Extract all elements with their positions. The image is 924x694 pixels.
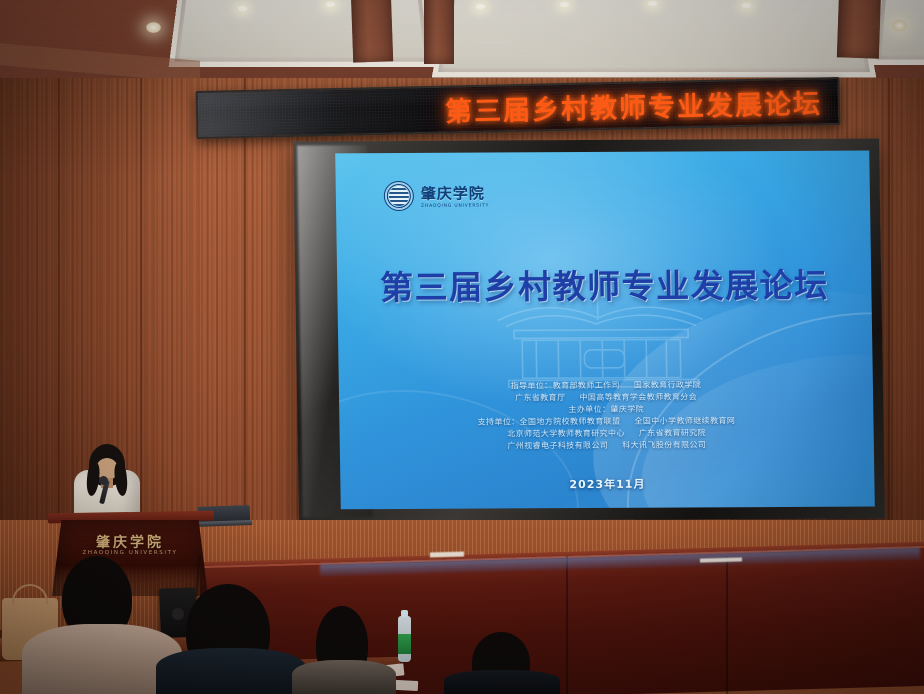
org-label: 主办单位：: [568, 405, 610, 414]
org-label: 指导单位：: [511, 381, 553, 390]
bottle-cap: [401, 610, 408, 617]
audience-shoulders: [292, 660, 396, 694]
ceiling-downlight: [648, 1, 657, 6]
ceiling-coffer-center: [432, 0, 877, 77]
slide-title: 第三届乡村教师专业发展论坛: [337, 259, 872, 310]
org-value: 教育部教师工作司: [553, 381, 620, 390]
ceiling-downlight: [238, 6, 247, 11]
org-value: 国家教育行政学院: [634, 380, 701, 389]
lectern-label-cn: 肇庆学院: [52, 532, 208, 552]
water-bottle: [398, 616, 411, 662]
speaker-cone: [172, 608, 184, 620]
org-value: 北京师范大学教师教育研究中心: [507, 429, 625, 439]
presenter: [70, 436, 144, 522]
audience-shoulders: [444, 670, 560, 694]
org-value: 广东省教育研究院: [639, 428, 706, 437]
university-seal-icon: [384, 181, 414, 211]
ceiling-downlight: [742, 3, 751, 8]
auditorium-scene: 第三届乡村教师专业发展论坛: [0, 0, 924, 694]
led-glare: [198, 88, 429, 137]
university-logo: 肇庆学院 ZHAOQING UNIVERSITY: [384, 181, 490, 212]
recessed-spotlight: [892, 20, 907, 31]
audience-shoulders: [156, 648, 306, 694]
org-value: 肇庆学院: [610, 405, 644, 414]
stage-paper: [430, 552, 464, 558]
org-value: 广州视睿电子科技有限公司: [507, 441, 608, 451]
ceiling-coffer-left: [169, 0, 436, 67]
org-value: 中国高等教育学会教师教育分会: [579, 392, 697, 402]
university-logo-en: ZHAOQING UNIVERSITY: [421, 204, 489, 209]
org-value: 广东省教育厅: [515, 393, 566, 402]
presentation-slide: 肇庆学院 ZHAOQING UNIVERSITY 第三届乡村教师专业发展论坛 指…: [335, 151, 875, 510]
microphone-head: [99, 476, 108, 485]
org-value: 科大讯飞股份有限公司: [622, 440, 706, 449]
recessed-spotlight: [146, 22, 161, 33]
led-banner-text: 第三届乡村教师专业发展论坛: [445, 82, 823, 129]
org-label: 支持单位：: [478, 417, 520, 426]
slide-organizations: 指导单位：教育部教师工作司国家教育行政学院 广东省教育厅中国高等教育学会教师教育…: [339, 379, 874, 454]
ceiling-beam-1: [351, 0, 393, 63]
projection-screen: 肇庆学院 ZHAOQING UNIVERSITY 第三届乡村教师专业发展论坛 指…: [293, 138, 885, 521]
org-value: 全国中小学教师继续教育网: [634, 416, 735, 426]
ceiling-downlight: [476, 4, 485, 9]
stage-panel-seam: [726, 556, 728, 694]
ceiling-downlight: [326, 2, 335, 7]
stage-panel-seam: [566, 556, 568, 694]
university-logo-cn: 肇庆学院: [421, 183, 489, 204]
lectern-label-en: ZHAOQING UNIVERSITY: [52, 550, 208, 556]
ceiling-beam-2: [424, 0, 454, 64]
slide-date: 2023年11月: [340, 475, 874, 494]
org-value: 全国地方院校教师教育联盟: [520, 417, 621, 427]
ceiling-downlight: [560, 2, 569, 7]
bottle-label: [398, 634, 411, 654]
ceiling-beam-3: [837, 0, 881, 59]
